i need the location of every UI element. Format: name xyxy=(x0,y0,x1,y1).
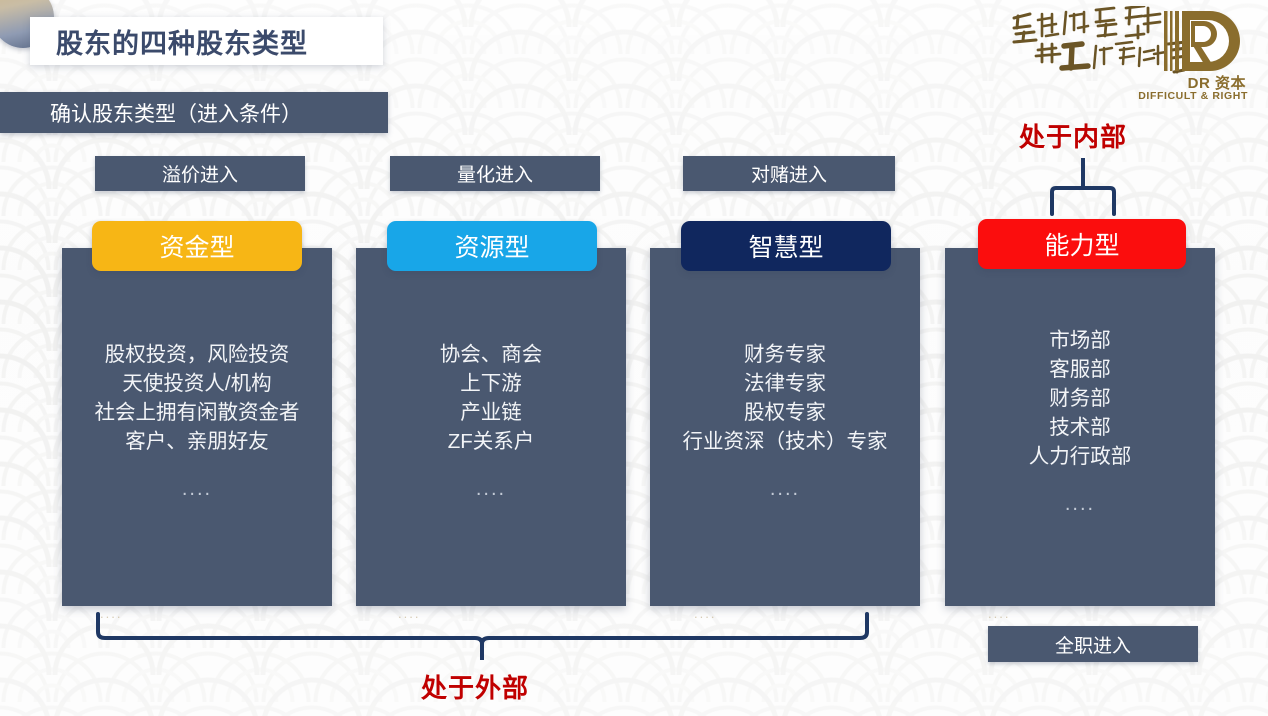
page-title: 股东的四种股东类型 xyxy=(56,22,308,61)
shareholder-type-more: .... xyxy=(62,478,332,501)
fulltime-entry-chip[interactable]: 全职进入 xyxy=(988,626,1198,662)
entry-condition-chip-1[interactable]: 溢价进入 xyxy=(95,156,305,191)
annotation-outside-label: 处于外部 xyxy=(421,668,529,705)
entry-condition-label: 量化进入 xyxy=(457,160,533,187)
shareholder-type-header-resource[interactable]: 资源型 xyxy=(387,221,597,271)
shareholder-type-header-label: 资源型 xyxy=(454,228,529,264)
shareholder-type-more: .... xyxy=(650,478,920,501)
subtitle-label: 确认股东类型（进入条件） xyxy=(50,98,302,128)
page-title-plate: 股东的四种股东类型 xyxy=(30,17,383,65)
entry-condition-label: 溢价进入 xyxy=(162,160,238,187)
shareholder-type-header-label: 能力型 xyxy=(1044,226,1119,262)
logo-tagline: DIFFICULT & RIGHT xyxy=(1098,90,1248,102)
shareholder-type-items: 股权投资，风险投资 天使投资人/机构 社会上拥有闲散资金者 客户、亲朋好友 xyxy=(62,340,332,456)
shareholder-type-card[interactable]: 市场部 客服部 财务部 技术部 人力行政部 .... xyxy=(945,248,1215,606)
shareholder-type-items: 市场部 客服部 财务部 技术部 人力行政部 xyxy=(945,326,1215,471)
entry-condition-chip-3[interactable]: 对赌进入 xyxy=(683,156,895,191)
subtitle-bar: 确认股东类型（进入条件） xyxy=(0,92,388,133)
logo-dr-monogram-icon xyxy=(1162,8,1240,74)
shareholder-type-items: 财务专家 法律专家 股权专家 行业资深（技术）专家 xyxy=(650,340,920,456)
shareholder-type-more: .... xyxy=(356,478,626,501)
annotation-inside-label: 处于内部 xyxy=(1019,117,1127,154)
under-card-dots: .... xyxy=(988,606,1010,621)
shareholder-type-header-wisdom[interactable]: 智慧型 xyxy=(681,221,891,271)
entry-condition-chip-2[interactable]: 量化进入 xyxy=(390,156,600,191)
brace-outside-icon xyxy=(95,612,870,662)
logo-calligraphy-icon xyxy=(1008,6,1188,78)
shareholder-type-card[interactable]: 股权投资，风险投资 天使投资人/机构 社会上拥有闲散资金者 客户、亲朋好友 ..… xyxy=(62,248,332,606)
shareholder-type-items: 协会、商会 上下游 产业链 ZF关系户 xyxy=(356,340,626,456)
shareholder-type-card[interactable]: 财务专家 法律专家 股权专家 行业资深（技术）专家 .... xyxy=(650,248,920,606)
shareholder-type-header-capital[interactable]: 资金型 xyxy=(92,221,302,271)
brand-logo: DR 资本 DIFFICULT & RIGHT xyxy=(1008,2,1258,106)
shareholder-type-header-label: 资金型 xyxy=(159,228,234,264)
slide-canvas: 股东的四种股东类型 确认股东类型（进入条件） xyxy=(0,0,1268,716)
shareholder-type-card[interactable]: 协会、商会 上下游 产业链 ZF关系户 .... xyxy=(356,248,626,606)
fulltime-entry-label: 全职进入 xyxy=(1055,631,1131,658)
shareholder-type-more: .... xyxy=(945,493,1215,516)
brace-inside-icon xyxy=(1048,158,1118,216)
shareholder-type-header-label: 智慧型 xyxy=(748,228,823,264)
entry-condition-label: 对赌进入 xyxy=(751,160,827,187)
shareholder-type-header-capability[interactable]: 能力型 xyxy=(978,219,1186,269)
